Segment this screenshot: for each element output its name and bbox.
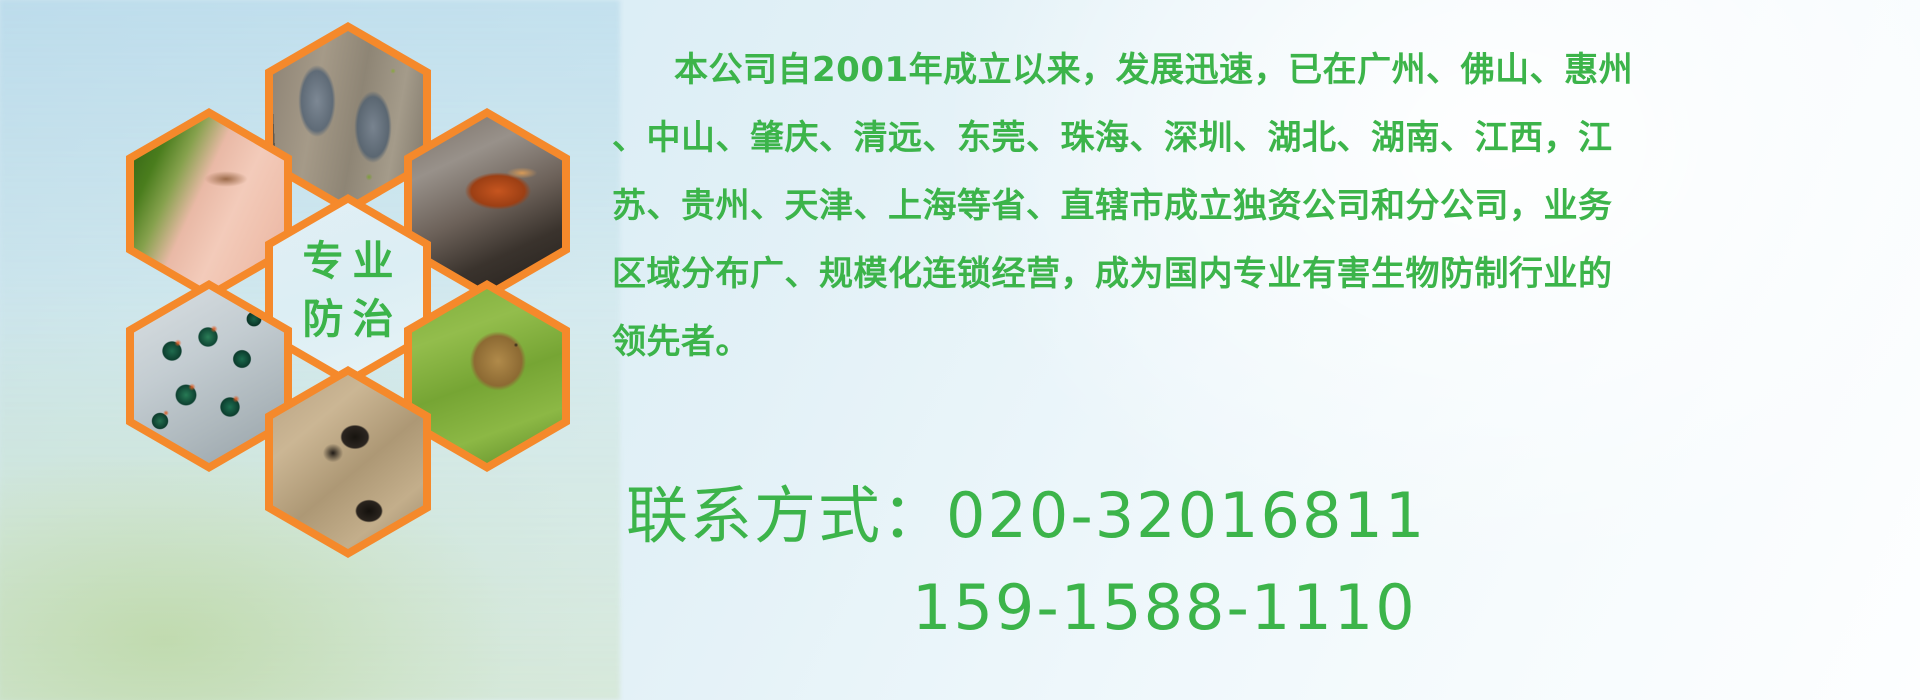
slogan-line-2: 防治 [294,290,403,348]
rodents-photo [273,31,423,205]
company-intro-paragraph: 本公司自2001年成立以来，发展迅速，已在广州、佛山、惠州 、中山、肇庆、清远、… [612,36,1912,376]
flies-photo [134,289,284,463]
hex-inner-mosquito [134,117,284,291]
promo-banner: 专业 防治 本公司自2001年成立以来，发展迅速，已在广州、佛山、惠州 、中山、… [0,0,1920,700]
cockroach-photo [412,117,562,291]
contact-phone-mobile[interactable]: 159-1588-1110 [612,562,1912,654]
hex-inner-slogan: 专业 防治 [273,203,423,377]
honeycomb-image-cluster: 专业 防治 [88,8,608,568]
intro-line-2: 、中山、肇庆、清远、东莞、珠海、深圳、湖北、湖南、江西，江 [612,104,1912,172]
hex-inner-ant [273,375,423,549]
intro-line-5: 领先者。 [612,308,1912,376]
banner-content: 本公司自2001年成立以来，发展迅速，已在广州、佛山、惠州 、中山、肇庆、清远、… [612,0,1912,700]
intro-line-4: 区域分布广、规模化连锁经营，成为国内专业有害生物防制行业的 [612,240,1912,308]
hex-inner-flies [134,289,284,463]
hex-inner-stinkbug [412,289,562,463]
intro-line-1: 本公司自2001年成立以来，发展迅速，已在广州、佛山、惠州 [612,36,1912,104]
hex-inner-rodents [273,31,423,205]
ant-photo [273,375,423,549]
contact-phone-landline[interactable]: 联系方式：020-32016811 [612,470,1912,562]
stinkbug-photo [412,289,562,463]
mosquito-photo [134,117,284,291]
hex-inner-cockroach [412,117,562,291]
contact-block: 联系方式：020-32016811 159-1588-1110 [612,470,1912,654]
intro-line-3: 苏、贵州、天津、上海等省、直辖市成立独资公司和分公司，业务 [612,172,1912,240]
slogan-line-1: 专业 [294,232,403,290]
